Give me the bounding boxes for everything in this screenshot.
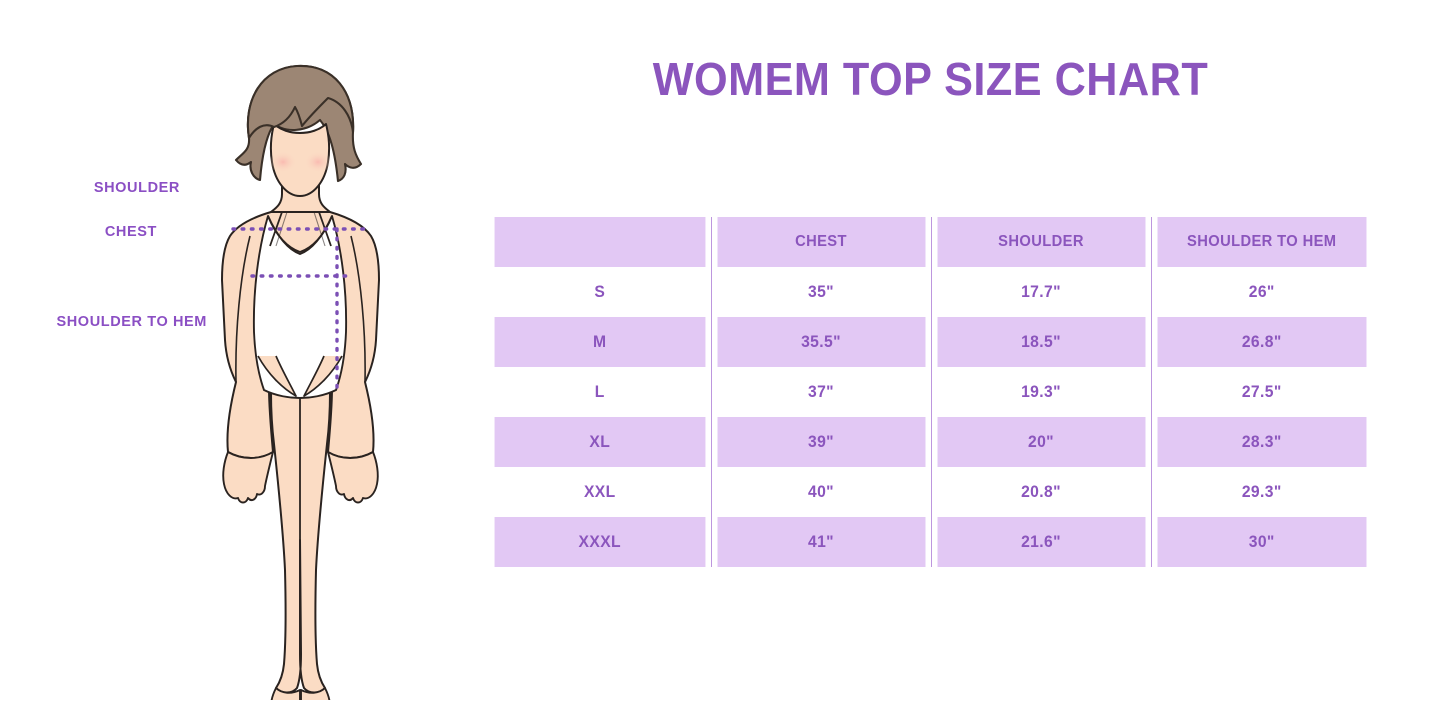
cell-size: XXL <box>495 467 706 517</box>
table-row: S 35" 17.7" 26" <box>489 267 1372 317</box>
measurement-label-shoulder-to-hem: SHOULDER TO HEM <box>0 314 207 330</box>
hand-right <box>328 452 378 503</box>
illustration-panel: SHOULDER CHEST SHOULDER TO HEM <box>0 0 470 723</box>
cell-size: M <box>495 317 706 367</box>
cell-chest: 37" <box>717 367 926 417</box>
cell-size: S <box>495 267 706 317</box>
blush-right <box>304 151 332 173</box>
cell-shoulder: 20.8" <box>937 467 1146 517</box>
column-header-shoulder-to-hem: SHOULDER TO HEM <box>1157 217 1367 267</box>
cell-size: XL <box>495 417 706 467</box>
cell-chest: 35.5" <box>717 317 926 367</box>
table-row: XXXL 41" 21.6" 30" <box>489 517 1372 568</box>
cell-shoulder: 20" <box>937 417 1146 467</box>
cell-size: XXXL <box>495 517 706 568</box>
table-header: CHEST SHOULDER SHOULDER TO HEM <box>489 217 1372 267</box>
measurement-label-chest: CHEST <box>0 224 157 240</box>
size-chart-table: CHEST SHOULDER SHOULDER TO HEM S 35" 17.… <box>489 217 1372 568</box>
column-header-shoulder: SHOULDER <box>937 217 1146 267</box>
cell-shoulder-to-hem: 30" <box>1157 517 1367 568</box>
measurement-label-shoulder: SHOULDER <box>0 180 180 196</box>
cell-shoulder: 19.3" <box>937 367 1146 417</box>
page-title: WOMEM TOP SIZE CHART <box>515 52 1345 106</box>
cell-shoulder: 21.6" <box>937 517 1146 568</box>
cell-chest: 41" <box>717 517 926 568</box>
cell-shoulder: 18.5" <box>937 317 1146 367</box>
cell-chest: 35" <box>717 267 926 317</box>
cell-size: L <box>495 367 706 417</box>
cell-chest: 39" <box>717 417 926 467</box>
cell-shoulder-to-hem: 27.5" <box>1157 367 1367 417</box>
table-row: M 35.5" 18.5" 26.8" <box>489 317 1372 367</box>
cell-shoulder-to-hem: 29.3" <box>1157 467 1367 517</box>
blush-left <box>269 151 297 173</box>
body-group <box>222 66 379 700</box>
table-row: L 37" 19.3" 27.5" <box>489 367 1372 417</box>
table-row: XXL 40" 20.8" 29.3" <box>489 467 1372 517</box>
table-header-row: CHEST SHOULDER SHOULDER TO HEM <box>489 217 1372 267</box>
cell-shoulder-to-hem: 26.8" <box>1157 317 1367 367</box>
table-row: XL 39" 20" 28.3" <box>489 417 1372 467</box>
cell-shoulder-to-hem: 28.3" <box>1157 417 1367 467</box>
column-header-chest: CHEST <box>717 217 926 267</box>
female-body-illustration <box>150 40 450 700</box>
cell-shoulder: 17.7" <box>937 267 1146 317</box>
size-chart-page: SHOULDER CHEST SHOULDER TO HEM WOMEM TOP… <box>0 0 1445 723</box>
cell-chest: 40" <box>717 467 926 517</box>
cell-shoulder-to-hem: 26" <box>1157 267 1367 317</box>
hand-left <box>223 452 273 503</box>
table-body: S 35" 17.7" 26" M 35.5" 18.5" 26.8" L 37… <box>489 267 1372 568</box>
column-header-size <box>495 217 706 267</box>
